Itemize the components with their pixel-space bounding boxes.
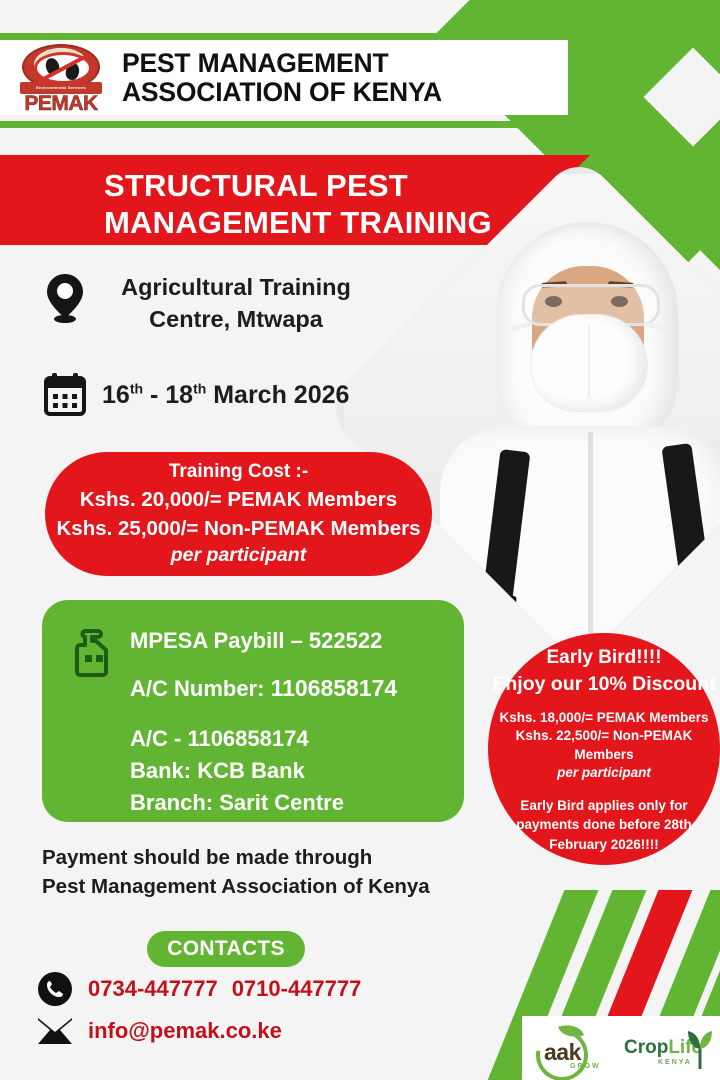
venue-line2: Centre, Mtwapa <box>102 304 370 336</box>
payment-note: Payment should be made through Pest Mana… <box>42 843 430 901</box>
email-address[interactable]: info@pemak.co.ke <box>88 1018 282 1044</box>
mpesa-account-label: A/C Number: <box>130 676 271 701</box>
respirator-mask <box>530 314 648 412</box>
phone-numbers: 0734-4477770710-447777 <box>88 976 361 1002</box>
early-bird-terms-line1: Early Bird applies only for <box>520 796 687 816</box>
bank-branch: Branch: Sarit Centre <box>130 790 344 816</box>
phone-number-1[interactable]: 0734-447777 <box>88 976 218 1001</box>
aak-tagline: GROW <box>570 1063 601 1070</box>
contacts-heading-pill: CONTACTS <box>147 931 305 967</box>
pemak-logo-wordmark: PEMAK <box>14 92 108 116</box>
training-title-banner: STRUCTURAL PEST MANAGEMENT TRAINING <box>0 155 545 245</box>
croplife-sprout-icon <box>686 1029 714 1069</box>
croplife-kenya-logo: CropLife KENYA <box>620 1019 718 1077</box>
sprayer-tank <box>716 474 720 614</box>
phone-contact-row[interactable]: 0734-4477770710-447777 <box>38 972 361 1006</box>
venue-row: Agricultural Training Centre, Mtwapa <box>40 272 370 335</box>
mpesa-paybill-label: MPESA Paybill – <box>130 628 309 653</box>
croplife-word-crop: Crop <box>624 1037 668 1058</box>
pemak-logo: Environmental Services PEMAK <box>14 42 108 114</box>
envelope-icon <box>38 1018 72 1044</box>
header-stripe-bottom <box>0 121 556 128</box>
email-contact-row[interactable]: info@pemak.co.ke <box>38 1018 282 1044</box>
calendar-icon <box>40 372 90 416</box>
training-cost-bubble: Training Cost :- Kshs. 20,000/= PEMAK Me… <box>45 452 432 576</box>
mpesa-paybill-line: MPESA Paybill – 522522 <box>130 628 382 654</box>
early-bird-offer: Early Bird!!!! Enjoy our 10% Discount Ks… <box>488 633 720 865</box>
date-day-end: 18 <box>165 381 193 409</box>
venue-text: Agricultural Training Centre, Mtwapa <box>102 272 370 335</box>
date-day-start-suffix: th <box>130 381 143 397</box>
phone-number-2[interactable]: 0710-447777 <box>232 976 362 1001</box>
payment-note-line1: Payment should be made through <box>42 843 430 872</box>
sprayer-bottle-icon <box>72 628 116 678</box>
strap-buckle-left <box>477 592 517 613</box>
date-month-year: March 2026 <box>206 381 349 409</box>
training-title: STRUCTURAL PEST MANAGEMENT TRAINING <box>104 167 492 241</box>
training-cost-member: Kshs. 20,000/= PEMAK Members <box>80 485 397 514</box>
strap-buckle-right <box>673 583 713 604</box>
poster-canvas: Environmental Services PEMAK PEST MANAGE… <box>0 0 720 1080</box>
bank-account-number: A/C - 1106858174 <box>130 726 309 752</box>
mpesa-account-line: A/C Number: 1106858174 <box>130 675 397 702</box>
training-cost-heading: Training Cost :- <box>169 461 308 483</box>
early-bird-price-nonmember: Kshs. 22,500/= Non-PEMAK Members <box>488 727 720 764</box>
training-cost-nonmember: Kshs. 25,000/= Non-PEMAK Members <box>57 514 421 543</box>
date-day-end-suffix: th <box>193 381 206 397</box>
early-bird-terms-line2: payments done before 28th <box>516 815 692 835</box>
aak-grow-logo: aak GROW <box>526 1019 620 1077</box>
organisation-title-line1: PEST MANAGEMENT <box>122 49 442 77</box>
suit-zipper <box>588 432 593 652</box>
training-title-line1: STRUCTURAL PEST <box>104 167 492 204</box>
early-bird-price-member: Kshs. 18,000/= PEMAK Members <box>500 709 709 727</box>
date-separator: - <box>143 381 165 409</box>
early-bird-terms-line3: February 2026!!!! <box>549 835 659 855</box>
date-text: 16th - 18th March 2026 <box>102 372 349 410</box>
poster-header: Environmental Services PEMAK PEST MANAGE… <box>0 40 568 115</box>
early-bird-per-participant: per participant <box>557 764 651 782</box>
phone-icon <box>38 972 72 1006</box>
prohibition-slash-icon <box>37 52 92 84</box>
date-day-start: 16 <box>102 381 130 409</box>
header-stripe-top <box>0 33 576 40</box>
date-row: 16th - 18th March 2026 <box>40 372 349 416</box>
venue-line1: Agricultural Training <box>102 272 370 304</box>
payment-note-line2: Pest Management Association of Kenya <box>42 872 430 901</box>
aak-wordmark: aak <box>544 1039 581 1066</box>
mpesa-account-value: 1106858174 <box>271 675 398 701</box>
early-bird-subtitle: Enjoy our 10% Discount <box>492 673 715 696</box>
training-cost-per-participant: per participant <box>171 544 306 567</box>
organisation-title: PEST MANAGEMENT ASSOCIATION OF KENYA <box>122 49 442 106</box>
organisation-title-line2: ASSOCIATION OF KENYA <box>122 78 442 106</box>
partner-logos: aak GROW CropLife KENYA <box>522 1016 720 1080</box>
training-title-line2: MANAGEMENT TRAINING <box>104 204 492 241</box>
early-bird-title: Early Bird!!!! <box>546 647 661 669</box>
bank-name: Bank: KCB Bank <box>130 758 305 784</box>
mpesa-paybill-value: 522522 <box>309 628 382 653</box>
location-pin-icon <box>40 272 90 324</box>
payment-details-card: MPESA Paybill – 522522 A/C Number: 11068… <box>42 600 464 822</box>
